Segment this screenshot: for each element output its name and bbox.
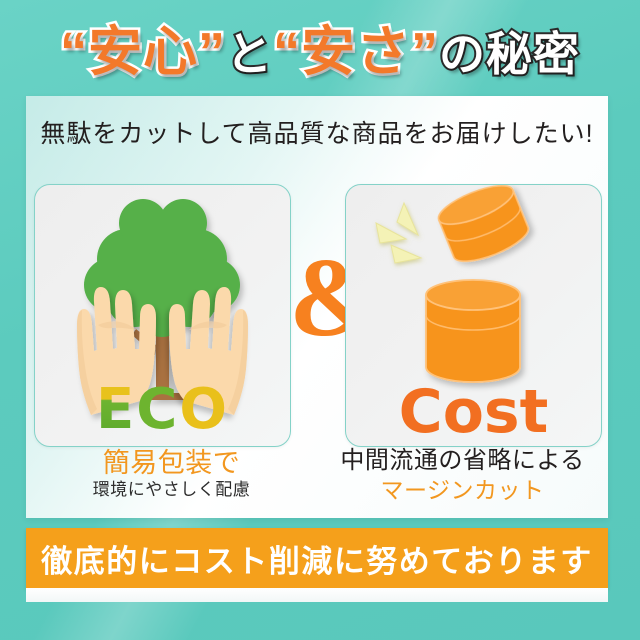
feature-card-cost[interactable]: Cost bbox=[345, 184, 602, 447]
card-captions: 簡易包装で 環境にやさしく配慮 中間流通の省略による マージンカット bbox=[26, 448, 608, 518]
eco-wordmark: ECO bbox=[35, 382, 290, 438]
caption-eco-sub: 環境にやさしく配慮 bbox=[26, 480, 317, 500]
eco-letter-e: E bbox=[96, 377, 136, 442]
content-panel: 無駄をカットして高品質な商品をお届けしたい! bbox=[26, 96, 608, 518]
bottom-banner: 徹底的にコスト削減に努めております bbox=[26, 528, 608, 588]
eco-letter-c: C bbox=[136, 377, 179, 442]
title-part-himitsu: の秘密 bbox=[439, 28, 580, 80]
caption-eco-main: 簡易包装で bbox=[26, 448, 317, 478]
title-part-anshin: “安心” bbox=[60, 22, 226, 82]
caption-cost: 中間流通の省略による マージンカット bbox=[317, 448, 608, 504]
lead-text: 無駄をカットして高品質な商品をお届けしたい! bbox=[26, 114, 608, 150]
banner-footer-strip bbox=[26, 588, 608, 602]
title-part-yasusa: “安さ” bbox=[273, 22, 439, 82]
caption-cost-main: 中間流通の省略による bbox=[317, 448, 608, 475]
caption-eco: 簡易包装で 環境にやさしく配慮 bbox=[26, 448, 317, 501]
caption-cost-sub: マージンカット bbox=[317, 477, 608, 505]
promotional-banner: “安心”と“安さ”の秘密 無駄をカットして高品質な商品をお届けしたい! bbox=[0, 0, 640, 640]
bottom-banner-text: 徹底的にコスト削減に努めております bbox=[41, 536, 593, 581]
ampersand-symbol: & bbox=[289, 242, 345, 354]
page-header: “安心”と“安さ”の秘密 bbox=[0, 0, 640, 96]
feature-card-eco[interactable]: ECO bbox=[34, 184, 291, 447]
page-title: “安心”と“安さ”の秘密 bbox=[60, 7, 580, 86]
title-part-to: と bbox=[226, 28, 273, 80]
cost-wordmark: Cost bbox=[346, 382, 601, 442]
eco-letter-o: O bbox=[179, 377, 229, 442]
feature-cards: ECO & bbox=[26, 184, 608, 446]
